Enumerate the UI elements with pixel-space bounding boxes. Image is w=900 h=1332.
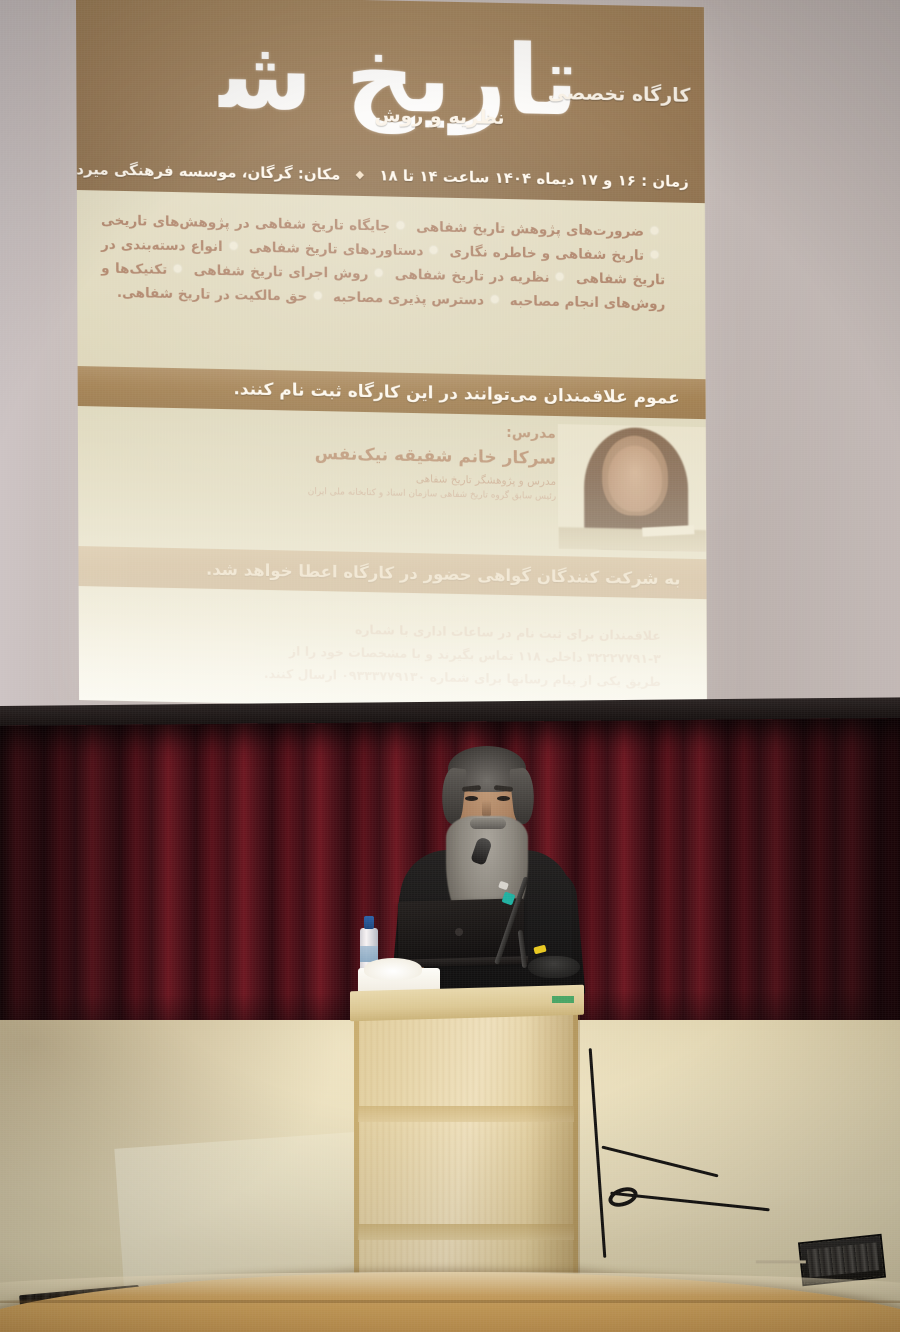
podium [348,988,586,1280]
topic-item-5: نظریه در تاریخ شفاهی [395,267,550,286]
topic-item-1: جایگاه تاریخ شفاهی در پژوهش‌های تاریخی [101,213,390,235]
diamond-icon: ◆ [346,168,375,182]
floor-box-panel [807,1242,880,1277]
topic-item-3: دستاوردهای تاریخ شفاهی [249,240,424,260]
topic-item-6: روش اجرای تاریخ شفاهی [194,262,369,282]
slide-title-calligraphy: تاریخ شفاهی [218,0,579,177]
laptop-logo-icon [455,928,463,936]
eye-left [465,796,478,801]
bullet-icon [397,222,404,229]
nose [482,800,491,817]
bullet-icon [651,227,658,234]
moustache [470,818,506,829]
slide-subtitle: نظریه و روش [374,104,504,129]
instructor-text: مدرس: سرکار خانم شفیقه نیک‌نفس مدرس و پژ… [94,416,556,502]
topic-item-9: حق مالکیت در تاریخ شفاهی. [117,285,308,305]
tissue-puff [364,958,422,980]
bullet-icon [375,269,382,276]
topic-item-2: تاریخ شفاهی و خاطره نگاری [449,244,644,264]
bullet-icon [430,246,437,253]
slide-contact-note: علاقمندان برای ثبت نام در ساعات اداری با… [79,586,707,713]
bullet-icon [314,292,321,299]
slide-kicker: کارگاه تخصصی [548,82,691,107]
rail-highlight [0,1272,900,1296]
green-sticker [552,996,574,1003]
bottle-cap [364,916,374,929]
slide-header-band: تاریخ شفاهی کارگاه تخصصی نظریه و روش زما… [76,0,705,203]
bullet-icon [651,251,658,258]
topic-paragraph: ضرورت‌های پژوهش تاریخ شفاهی جایگاه تاریخ… [101,209,665,317]
podium-shadow-right [526,1012,580,1280]
bullet-icon [491,296,498,303]
instructor-name: سرکار خانم شفیقه نیک‌نفس [94,439,556,469]
eye-right [497,796,510,801]
rail-seam [0,1300,900,1303]
instructor-role-label: مدرس: [94,416,556,442]
photograph: تاریخ شفاهی کارگاه تخصصی نظریه و روش زما… [0,0,900,1332]
floor-box-cable [756,1260,806,1263]
bullet-icon [230,242,237,249]
face-shape [608,445,662,512]
bullet-icon [174,265,181,272]
instructor-photo [558,424,707,552]
slide-topic-list: ضرورت‌های پژوهش تاریخ شفاهی جایگاه تاریخ… [77,190,706,379]
microphone-base [528,956,580,978]
topic-item-0: ضرورت‌های پژوهش تاریخ شفاهی [416,219,644,240]
slide-time-label: زمان : ۱۶ و ۱۷ دیماه ۱۴۰۴ ساعت ۱۴ تا ۱۸ [379,166,689,190]
topic-item-8: دسترس پذیری مصاحبه [333,289,484,308]
projected-slide: تاریخ شفاهی کارگاه تخصصی نظریه و روش زما… [76,0,707,713]
bullet-icon [556,273,563,280]
slide-instructor-block: مدرس: سرکار خانم شفیقه نیک‌نفس مدرس و پژ… [78,406,707,559]
